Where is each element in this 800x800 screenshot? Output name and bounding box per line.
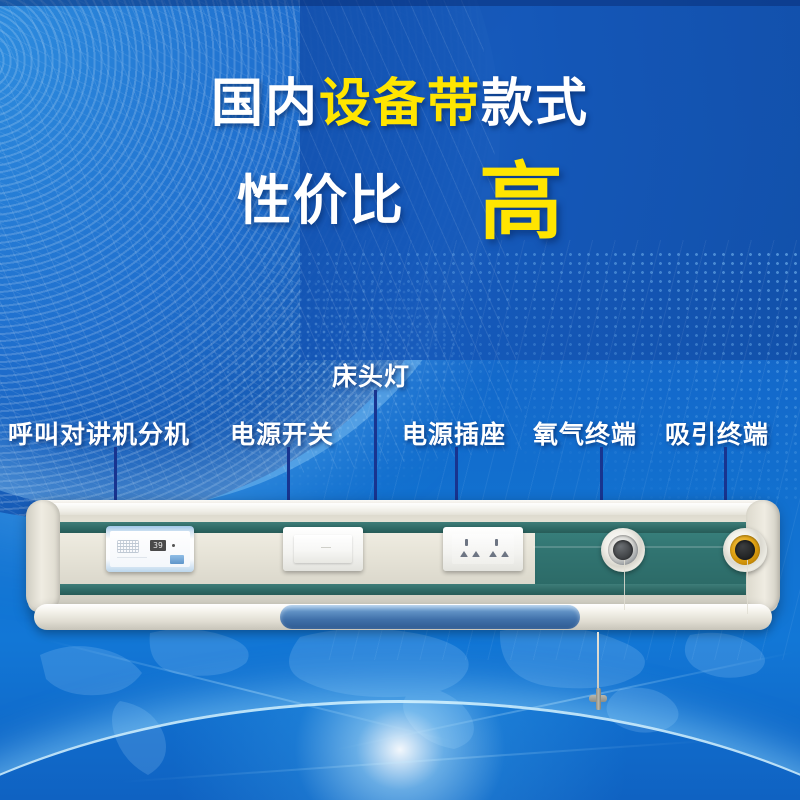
promo-banner: 国内设备带款式 性价比高 呼叫对讲机分机 电源开关 床头灯 电源插座 氧气终端 …	[0, 0, 800, 800]
unit-end-cap-left	[26, 500, 60, 612]
intercom-faceplate: 39	[110, 531, 190, 567]
rocker-switch-icon[interactable]	[294, 535, 352, 563]
oxygen-terminal-outlet[interactable]	[601, 528, 645, 572]
socket-pin-a2	[460, 551, 468, 557]
unit-top-highlight	[34, 503, 772, 515]
socket-pin-a3	[472, 551, 480, 557]
status-led-icon	[172, 544, 175, 547]
pull-cord[interactable]	[597, 632, 599, 694]
pull-cord-handle[interactable]	[589, 688, 607, 710]
suction-terminal-outlet[interactable]	[723, 528, 767, 572]
socket-pin-b1	[495, 539, 498, 546]
nurse-call-intercom-device[interactable]: 39	[106, 526, 194, 572]
unit-stripe-bottom	[28, 584, 778, 595]
highlight-boxes	[0, 0, 800, 800]
power-socket-device[interactable]	[443, 527, 523, 571]
cord-handle-cross-v	[596, 688, 601, 710]
bed-head-unit: 39	[28, 500, 778, 640]
intercom-call-button[interactable]	[170, 555, 184, 564]
oxygen-port-icon	[613, 540, 633, 560]
switch-mark	[321, 547, 331, 548]
socket-pin-b3	[501, 551, 509, 557]
intercom-display: 39	[150, 540, 166, 551]
power-switch-device[interactable]	[283, 527, 363, 571]
oxygen-cord-upper	[624, 560, 625, 610]
speaker-grille-icon	[117, 540, 139, 553]
socket-faceplate	[452, 534, 514, 564]
socket-pin-a1	[465, 539, 468, 546]
socket-pin-b2	[489, 551, 497, 557]
intercom-decor-line	[117, 557, 147, 558]
suction-cord-upper	[747, 560, 748, 614]
bed-lamp-diffuser	[280, 605, 580, 629]
suction-port-icon	[735, 540, 755, 560]
